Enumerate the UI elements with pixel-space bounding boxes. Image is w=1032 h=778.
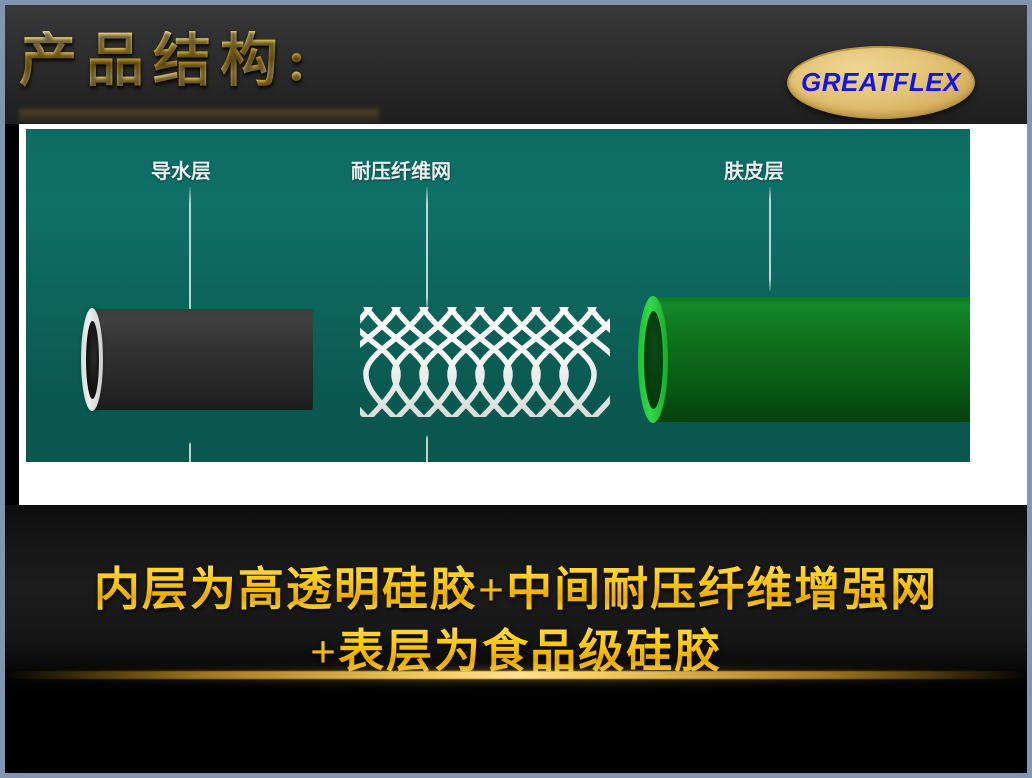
inner-tube-body <box>90 309 313 410</box>
label-water-layer: 导水层 <box>151 155 211 184</box>
slide-header: 产品结构: GREATFLEX <box>5 5 1027 124</box>
inner-tube-illustration <box>81 309 313 410</box>
brand-logo-text: GREATFLEX <box>801 67 961 98</box>
hose-structure-diagram: 导水层 耐压纤维网 肤皮层 <box>26 129 970 462</box>
caption-line-1: 内层为高透明硅胶+中间耐压纤维增强网 <box>5 553 1027 619</box>
label-skin-layer: 肤皮层 <box>724 155 784 184</box>
title-reflection <box>19 109 379 124</box>
page-title: 产品结构: <box>19 31 315 92</box>
gold-divider-rule <box>5 671 1027 679</box>
outer-jacket-body <box>650 297 970 422</box>
caption-area: 内层为高透明硅胶+中间耐压纤维增强网 +表层为食品级硅胶 <box>5 505 1027 773</box>
fiber-braid-svg <box>360 307 610 417</box>
slide-canvas: 产品结构: GREATFLEX 导水层 耐压纤维网 肤皮层 <box>0 0 1032 778</box>
outer-jacket-bore <box>644 311 663 409</box>
leader-line-fiber-mesh-lower <box>426 435 428 462</box>
leader-line-fiber-mesh <box>426 187 428 312</box>
leader-line-water-layer <box>189 187 191 322</box>
fiber-braid-illustration <box>360 307 610 417</box>
label-fiber-mesh: 耐压纤维网 <box>351 155 451 184</box>
leader-line-skin-layer <box>769 187 771 291</box>
leader-line-water-layer-lower <box>189 442 191 462</box>
brand-logo: GREATFLEX <box>787 46 975 119</box>
diagram-picture-frame: 导水层 耐压纤维网 肤皮层 <box>19 124 1027 505</box>
inner-tube-bore <box>86 321 99 399</box>
outer-jacket-illustration <box>638 297 970 422</box>
